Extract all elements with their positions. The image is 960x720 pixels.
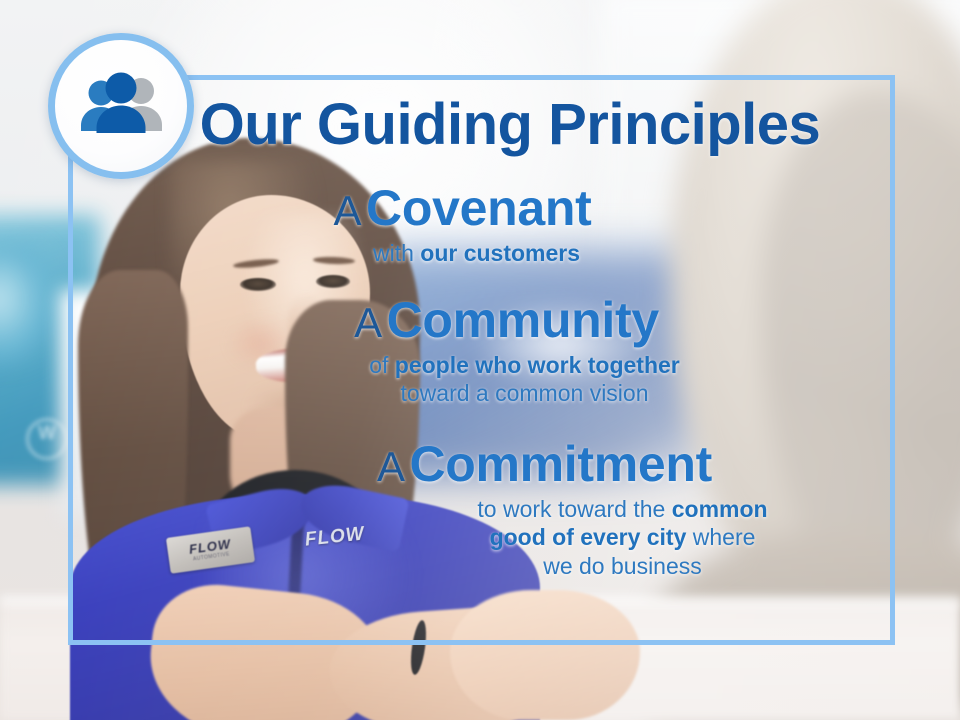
principle-heading: A Community bbox=[114, 294, 899, 347]
principle-heading: A Commitment bbox=[152, 438, 937, 491]
principle-heading: A Covenant bbox=[70, 182, 855, 235]
subtext-span-bold: good of every city bbox=[490, 524, 687, 550]
principle-subtext: to work toward the common good of every … bbox=[230, 495, 960, 581]
subtext-span: with bbox=[373, 240, 420, 266]
principle-subtext: with our customers bbox=[84, 239, 869, 268]
subtext-span: of bbox=[369, 352, 395, 378]
blurred-blue-highlight bbox=[0, 245, 55, 365]
principle-covenant: A Covenant with our customers bbox=[70, 182, 855, 268]
principle-subtext: of people who work together toward a com… bbox=[132, 351, 917, 408]
page-title: Our Guiding Principles bbox=[0, 96, 960, 154]
principle-word: Community bbox=[387, 292, 659, 348]
principle-subtext-line: we do business bbox=[230, 552, 960, 581]
subtext-span-bold: people who work together bbox=[395, 352, 680, 378]
principle-article: A bbox=[334, 187, 362, 234]
clasped-hands bbox=[450, 590, 640, 720]
principle-article: A bbox=[377, 443, 405, 490]
subtext-span: toward a common vision bbox=[401, 380, 649, 406]
principle-article: A bbox=[354, 299, 382, 346]
principle-subtext-line: with our customers bbox=[84, 239, 869, 268]
principle-subtext-line: toward a common vision bbox=[132, 379, 917, 408]
principle-word: Commitment bbox=[409, 436, 712, 492]
principle-word: Covenant bbox=[366, 180, 591, 236]
subtext-span: where bbox=[686, 524, 755, 550]
principle-commitment: A Commitment to work toward the common g… bbox=[152, 438, 937, 581]
principle-subtext-line: of people who work together bbox=[132, 351, 917, 380]
principle-community: A Community of people who work together … bbox=[114, 294, 899, 408]
poster-canvas: FLOW AUTOMOTIVE FLOW Our Guiding Princip… bbox=[0, 0, 960, 720]
principle-subtext-line: to work toward the common bbox=[230, 495, 960, 524]
subtext-span-bold: common bbox=[672, 496, 768, 522]
subtext-span-bold: our customers bbox=[420, 240, 580, 266]
principles-list: A Covenant with our customers A Communit… bbox=[90, 182, 875, 588]
subtext-span: to work toward the bbox=[477, 496, 671, 522]
principle-subtext-line: good of every city where bbox=[230, 523, 960, 552]
subtext-span: we do business bbox=[543, 553, 702, 579]
